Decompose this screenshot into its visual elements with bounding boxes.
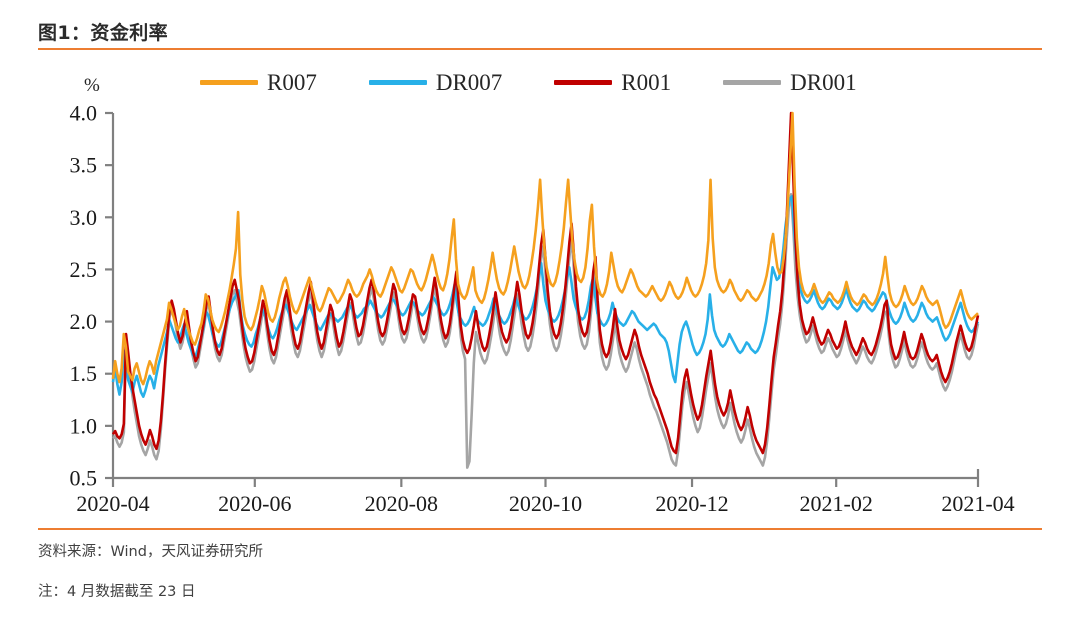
source-text: 资料来源：Wind，天风证券研究所	[38, 540, 263, 561]
x-tick-label: 2021-02	[800, 491, 873, 516]
title-divider	[38, 48, 1042, 50]
data-series-group	[113, 113, 978, 468]
footer-divider	[38, 528, 1042, 530]
y-tick-label: 2.0	[70, 309, 98, 334]
plot-wrapper: 0.51.01.52.02.53.03.54.0 2020-042020-062…	[0, 55, 1080, 520]
figure-container: 图1：资金利率 % R007 DR007 R001 DR001	[0, 0, 1080, 625]
y-axis-tick-labels: 0.51.01.52.02.53.03.54.0	[70, 101, 98, 491]
y-tick-label: 3.5	[70, 153, 98, 178]
y-tick-label: 0.5	[70, 466, 98, 491]
x-tick-label: 2020-08	[365, 491, 438, 516]
x-tick-label: 2020-06	[218, 491, 291, 516]
x-axis-tick-labels: 2020-042020-062020-082020-102020-122021-…	[76, 491, 1014, 516]
x-tick-label: 2021-04	[941, 491, 1014, 516]
figure-title: 图1：资金利率	[38, 18, 168, 45]
y-tick-label: 4.0	[70, 101, 98, 126]
y-tick-label: 2.5	[70, 257, 98, 282]
chart-area: % R007 DR007 R001 DR001 0.51.01.52.02.53…	[0, 55, 1080, 520]
line-chart-svg: 0.51.01.52.02.53.03.54.0 2020-042020-062…	[0, 55, 1080, 520]
y-tick-label: 1.5	[70, 361, 98, 386]
x-tick-label: 2020-10	[509, 491, 582, 516]
y-tick-label: 3.0	[70, 205, 98, 230]
x-tick-label: 2020-04	[76, 491, 149, 516]
y-tick-label: 1.0	[70, 413, 98, 438]
note-text: 注：4 月数据截至 23 日	[38, 580, 196, 601]
x-tick-label: 2020-12	[655, 491, 728, 516]
